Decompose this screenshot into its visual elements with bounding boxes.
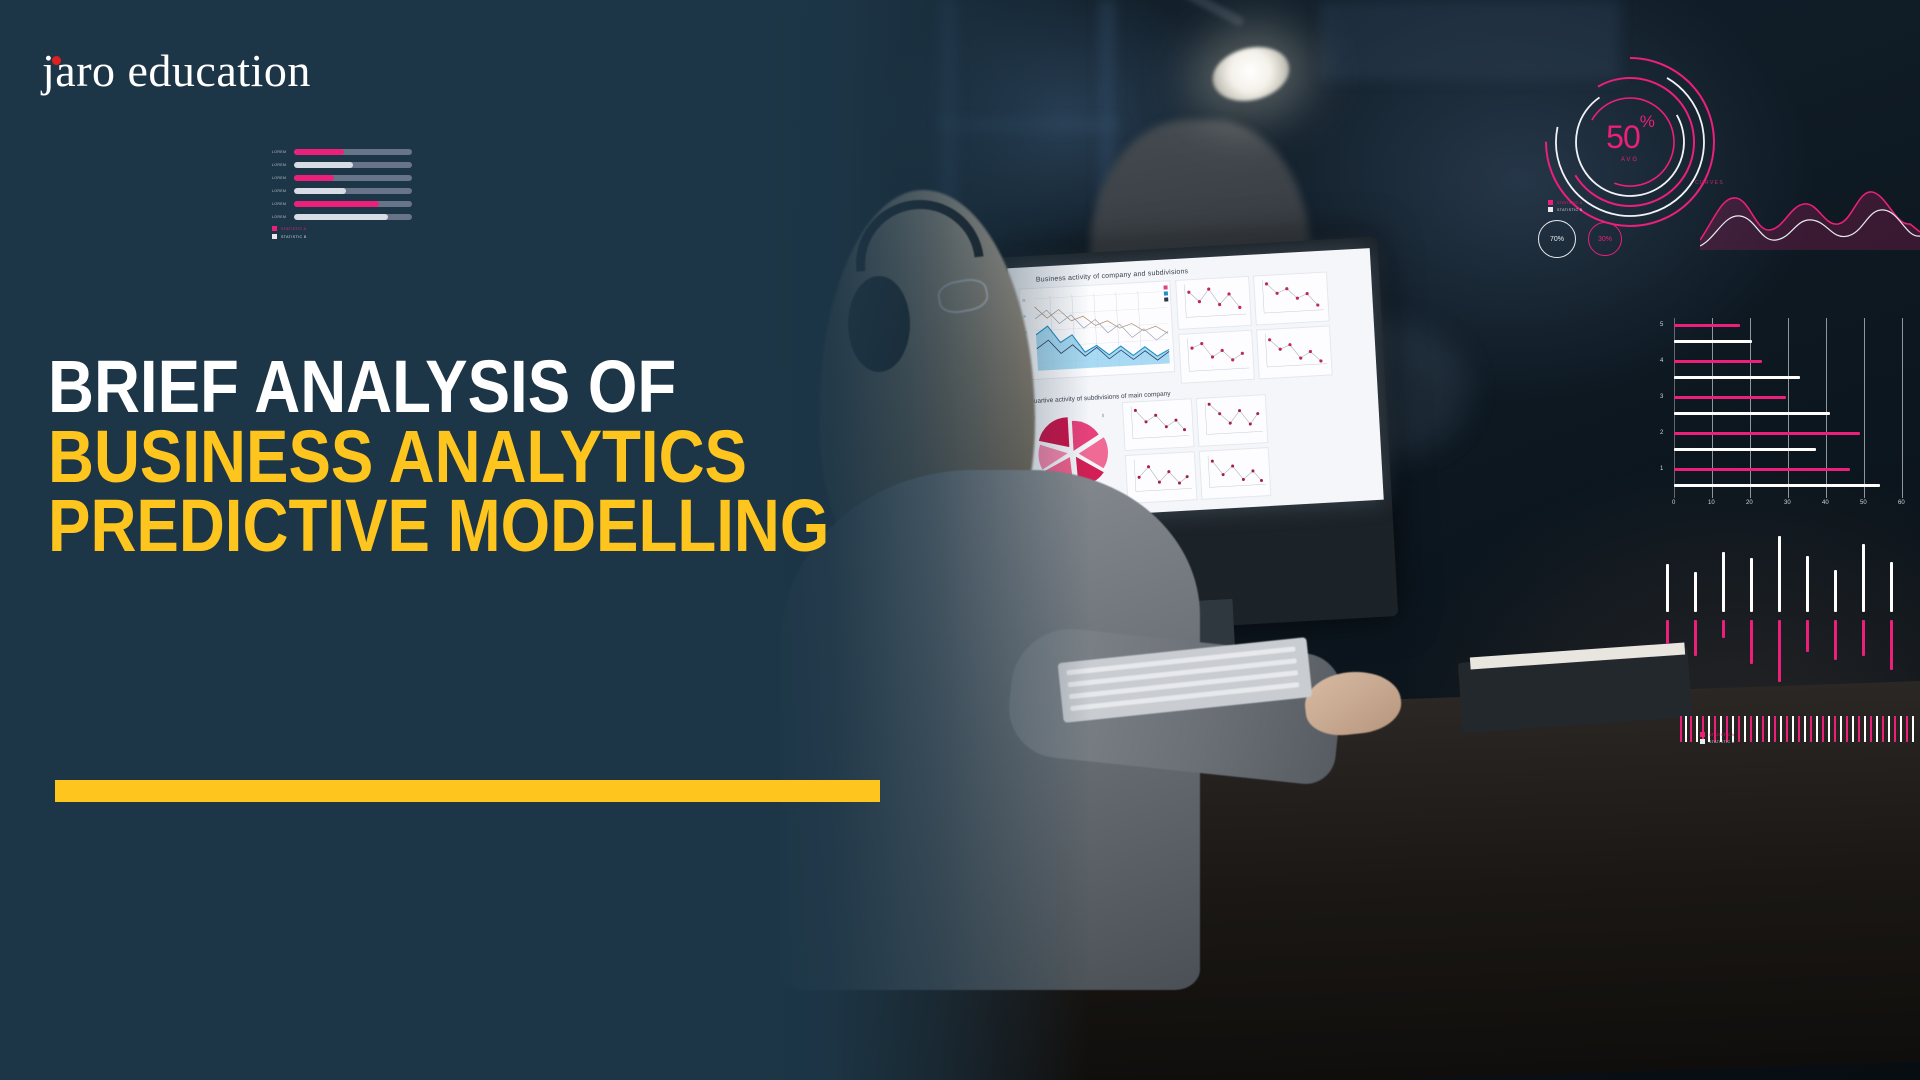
bg-shelf (940, 120, 1120, 130)
progress-label: LOREM (272, 189, 294, 193)
legend-label-b: STATISTIC B (281, 235, 307, 239)
column-a (1806, 620, 1809, 652)
bar-b (1674, 376, 1800, 379)
progress-row: LOREM (272, 148, 412, 156)
barcode-bar (1786, 716, 1788, 742)
bar-a (1674, 396, 1786, 399)
column-a (1778, 620, 1781, 682)
chart-ytick: 1 (1660, 466, 1663, 472)
hud-horizontal-bar-chart: 5 4 3 2 1 0 10 20 30 40 50 60 (1660, 318, 1920, 518)
bar-a (1674, 360, 1762, 363)
headline-line-3: PREDICTIVE MODELLING (48, 491, 829, 561)
column-b (1750, 558, 1753, 612)
legend-item: STATISTIC B (272, 234, 412, 239)
chart-ytick: 4 (1660, 358, 1663, 364)
barcode-bar (1750, 716, 1752, 742)
headline-line-2: BUSINESS ANALYTICS (48, 422, 829, 492)
progress-row: LOREM (272, 213, 412, 221)
bar-b (1674, 484, 1880, 487)
legend-label-a: STATISTIC A (1709, 733, 1734, 737)
column-a (1834, 620, 1837, 660)
monitor-mini-chart (1178, 330, 1255, 384)
barcode-bar (1804, 716, 1806, 742)
column-b (1862, 544, 1865, 612)
hud-progress-legend: STATISTIC A STATISTIC B (272, 226, 412, 239)
barcode-bar (1828, 716, 1830, 742)
barcode-bar (1834, 716, 1836, 742)
brand-logo[interactable]: jaro education (42, 48, 311, 94)
monitor-area-chart: 353025 2015 (1018, 280, 1175, 380)
bar-a (1674, 432, 1860, 435)
barcode-bar (1756, 716, 1758, 742)
barcode-bar (1690, 716, 1692, 742)
legend-swatch-b (1548, 207, 1553, 212)
legend-label-a: STATISTIC A (281, 227, 306, 231)
monitor-mini-chart (1253, 271, 1330, 325)
hud-legend-right: STATISTIC A STATISTIC B (1548, 200, 1583, 214)
chart-xtick: 40 (1822, 500, 1829, 506)
svg-text:35: 35 (1022, 298, 1026, 302)
barcode-bar (1780, 716, 1782, 742)
progress-label: LOREM (272, 176, 294, 180)
column-b (1778, 536, 1781, 612)
barcode-bar (1685, 716, 1687, 742)
chart-gridline (1902, 318, 1903, 498)
column-b (1834, 570, 1837, 612)
column-b (1806, 556, 1809, 612)
gauge-sublabel: AVG (1621, 157, 1639, 163)
barcode-bar (1774, 716, 1776, 742)
monitor-area-legend (1163, 285, 1168, 301)
progress-track (294, 162, 412, 168)
barcode-bar (1822, 716, 1824, 742)
progress-label: LOREM (272, 150, 294, 154)
legend-label-b: STATISTIC B (1557, 208, 1583, 212)
chart-xtick: 50 (1860, 500, 1867, 506)
bar-b (1674, 412, 1830, 415)
legend-item: STATISTIC B (1700, 739, 1735, 744)
bar-a (1674, 324, 1740, 327)
chart-y-axis (1674, 318, 1675, 498)
chart-xtick: 60 (1898, 500, 1905, 506)
barcode-bar (1816, 716, 1818, 742)
chart-gridline (1712, 318, 1713, 498)
bar-a (1674, 468, 1850, 471)
barcode-bar (1888, 716, 1890, 742)
hud-legend-bottom: STATISTIC A STATISTIC B (1700, 732, 1735, 746)
headline-underline-rule (55, 780, 880, 802)
gauge-value: 50% (1606, 121, 1654, 153)
hud-progress-panel: LOREM LOREM LOREM LOREM LOREM LOREM STAT… (272, 148, 412, 242)
monitor-mini-chart (1175, 276, 1252, 330)
chart-gridline (1864, 318, 1865, 498)
chart-xtick: 30 (1784, 500, 1791, 506)
progress-track (294, 201, 412, 207)
hud-vertical-bar-chart (1660, 530, 1920, 660)
legend-swatch-b (272, 234, 277, 239)
column-a (1862, 620, 1865, 656)
column-a (1722, 620, 1725, 638)
barcode-bar (1792, 716, 1794, 742)
progress-track (294, 188, 412, 194)
progress-track (294, 214, 412, 220)
chart-gridline (1826, 318, 1827, 498)
barcode-bar (1894, 716, 1896, 742)
legend-swatch-b (1700, 739, 1705, 744)
progress-track (294, 149, 412, 155)
barcode-bar (1858, 716, 1860, 742)
bar-b (1674, 340, 1752, 343)
gauge-70-label: 70% (1550, 236, 1564, 243)
progress-row: LOREM (272, 200, 412, 208)
monitor-mini-chart (1122, 398, 1195, 451)
legend-item: STATISTIC A (1548, 200, 1583, 205)
barcode-bar (1906, 716, 1908, 742)
progress-label: LOREM (272, 202, 294, 206)
progress-label: LOREM (272, 215, 294, 219)
chart-gridline (1750, 318, 1751, 498)
legend-item: STATISTIC B (1548, 207, 1583, 212)
chart-xtick: 10 (1708, 500, 1715, 506)
column-a (1694, 620, 1697, 656)
barcode-bar (1762, 716, 1764, 742)
barcode-bar (1738, 716, 1740, 742)
chart-gridline (1788, 318, 1789, 498)
progress-track (294, 175, 412, 181)
monitor-mini-chart (1199, 447, 1272, 500)
column-b (1694, 572, 1697, 612)
barcode-bar (1864, 716, 1866, 742)
monitor-mini-chart (1256, 325, 1333, 379)
barcode-bar (1768, 716, 1770, 742)
monitor-mini-chart (1125, 451, 1198, 504)
column-b (1890, 562, 1893, 612)
column-a (1890, 620, 1893, 670)
lamp-arm (1135, 0, 1246, 28)
barcode-bar (1900, 716, 1902, 742)
brand-name: jaro education (42, 45, 311, 96)
chart-xtick: 0 (1672, 500, 1675, 506)
barcode-bar (1744, 716, 1746, 742)
column-a (1666, 620, 1669, 644)
monitor-mini-chart (1196, 394, 1269, 447)
chart-ytick: 3 (1660, 394, 1663, 400)
lamp-head (1207, 39, 1295, 108)
barcode-bar (1696, 716, 1698, 742)
legend-swatch-a (1548, 200, 1553, 205)
barcode-bar (1846, 716, 1848, 742)
progress-row: LOREM (272, 174, 412, 182)
chart-ytick: 2 (1660, 430, 1663, 436)
progress-row: LOREM (272, 161, 412, 169)
barcode-bar (1810, 716, 1812, 742)
bar-b (1674, 448, 1816, 451)
gauge-30-label: 30% (1598, 236, 1612, 243)
column-b (1722, 552, 1725, 612)
legend-label-a: STATISTIC A (1557, 201, 1582, 205)
promo-banner: Business activity of company and subdivi… (0, 0, 1920, 1080)
barcode-bar (1840, 716, 1842, 742)
hud-curves-chart (1700, 180, 1920, 250)
chart-ytick: 5 (1660, 322, 1663, 328)
barcode-bar (1882, 716, 1884, 742)
svg-text:II: II (1101, 413, 1104, 419)
barcode-bar (1912, 716, 1914, 742)
column-a (1750, 620, 1753, 664)
progress-row: LOREM (272, 187, 412, 195)
chart-xtick: 20 (1746, 500, 1753, 506)
barcode-bar (1798, 716, 1800, 742)
headline-line-1: BRIEF ANALYSIS OF (48, 352, 829, 422)
legend-label-b: STATISTIC B (1709, 740, 1735, 744)
column-b (1666, 564, 1669, 612)
legend-swatch-a (1700, 732, 1705, 737)
barcode-bar (1852, 716, 1854, 742)
headline-block: BRIEF ANALYSIS OF BUSINESS ANALYTICS PRE… (48, 352, 957, 561)
legend-swatch-a (272, 226, 277, 231)
progress-label: LOREM (272, 163, 294, 167)
barcode-bar (1870, 716, 1872, 742)
logo-dot-icon (52, 56, 61, 65)
curves-label: CURVES (1695, 180, 1724, 186)
legend-item: STATISTIC A (1700, 732, 1735, 737)
barcode-bar (1876, 716, 1878, 742)
legend-item: STATISTIC A (272, 226, 412, 231)
barcode-bar (1680, 716, 1682, 742)
svg-text:30: 30 (1023, 314, 1027, 318)
